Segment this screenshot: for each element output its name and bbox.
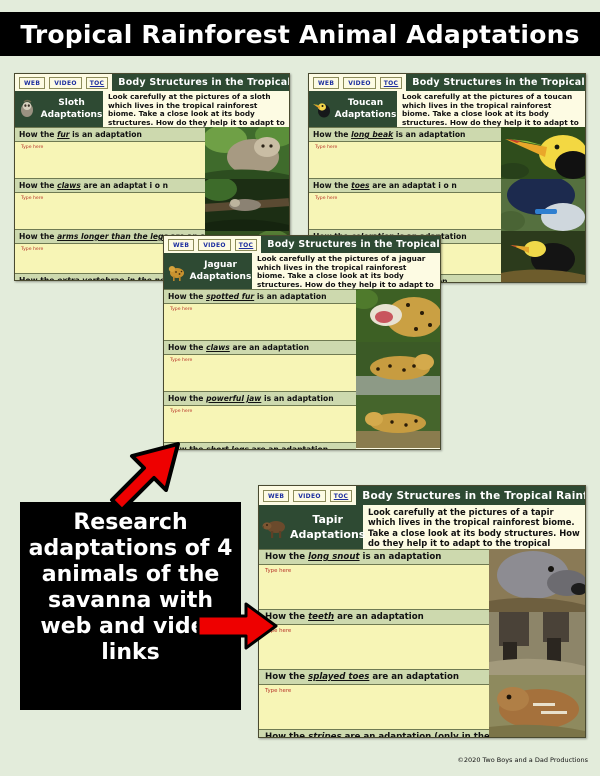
animal-title-box: TapirAdaptations xyxy=(259,505,363,549)
answer-field[interactable]: Type here xyxy=(15,193,205,229)
slide-topbar: WEB VIDEO TOC Body Structures in the Tro… xyxy=(164,236,440,253)
photos-column xyxy=(356,289,440,450)
video-button[interactable]: VIDEO xyxy=(49,77,82,89)
toc-button[interactable]: TOC xyxy=(380,77,403,89)
toc-button[interactable]: TOC xyxy=(86,77,109,89)
slide-intro-band: ToucanAdaptations Look carefully at the … xyxy=(309,91,585,127)
slide-intro-band: SlothAdaptations Look carefully at the p… xyxy=(15,91,289,127)
question-header: How the spotted fur is an adaptation xyxy=(164,289,356,304)
slide-nav-buttons: WEB VIDEO TOC xyxy=(259,486,356,505)
web-button[interactable]: WEB xyxy=(19,77,45,89)
answer-field[interactable]: Type here xyxy=(259,685,489,729)
sloth-photo-1 xyxy=(205,127,289,179)
animal-name: SlothAdaptations xyxy=(40,97,103,121)
photos-column xyxy=(501,127,585,283)
toucan-photo-1 xyxy=(501,127,585,179)
tapir-photo-3 xyxy=(489,675,585,738)
answer-field[interactable]: Type here xyxy=(15,142,205,178)
question-header: How the claws are an adaptation xyxy=(164,340,356,355)
answer-field[interactable]: Type here xyxy=(164,406,356,442)
slide-nav-buttons: WEB VIDEO TOC xyxy=(309,74,406,91)
jaguar-photo-1 xyxy=(356,289,440,342)
animal-title-box: ToucanAdaptations xyxy=(309,91,397,127)
jaguar-photo-2 xyxy=(356,342,440,395)
answer-field[interactable]: Type here xyxy=(309,193,501,229)
toucan-photo-3 xyxy=(501,231,585,283)
answer-field[interactable]: Type here xyxy=(164,304,356,340)
animal-name: JaguarAdaptations xyxy=(189,259,252,283)
question-header: How the stripes are an adaptation (only … xyxy=(259,729,489,738)
slide-topbar: WEB VIDEO TOC Body Structures in the Tro… xyxy=(15,74,289,91)
slide-intro-band: JaguarAdaptations Look carefully at the … xyxy=(164,253,440,289)
slide-topbar: WEB VIDEO TOC Body Structures in the Tro… xyxy=(309,74,585,91)
question-header: How the splayed toes are an adaptation xyxy=(259,669,489,685)
slide-nav-buttons: WEB VIDEO TOC xyxy=(164,236,261,253)
photos-column xyxy=(489,549,585,738)
toc-button[interactable]: TOC xyxy=(330,490,353,502)
answer-field[interactable]: Type here xyxy=(164,355,356,391)
slide-topbar: WEB VIDEO TOC Body Structures in the Tro… xyxy=(259,486,585,505)
questions-column: How the spotted fur is an adaptation Typ… xyxy=(164,289,356,450)
sloth-photo-2 xyxy=(205,179,289,231)
question-header: How the long beak is an adaptation xyxy=(309,127,501,142)
animal-name: TapirAdaptations xyxy=(290,512,365,542)
intro-text: Look carefully at the pictures of a tapi… xyxy=(363,505,585,549)
animal-title-box: SlothAdaptations xyxy=(15,91,103,127)
tapir-icon xyxy=(262,514,288,540)
page-title-banner: Tropical Rainforest Animal Adaptations xyxy=(0,12,600,56)
slide-nav-buttons: WEB VIDEO TOC xyxy=(15,74,112,91)
answer-field[interactable]: Type here xyxy=(309,142,501,178)
jaguar-icon xyxy=(167,260,187,282)
web-button[interactable]: WEB xyxy=(168,239,194,251)
question-header: How the claws are an adaptat i o n xyxy=(15,178,205,193)
sloth-icon xyxy=(18,98,38,120)
toucan-photo-2 xyxy=(501,179,585,231)
intro-text: Look carefully at the pictures of a slot… xyxy=(103,91,289,127)
video-button[interactable]: VIDEO xyxy=(198,239,231,251)
video-button[interactable]: VIDEO xyxy=(343,77,376,89)
intro-text: Look carefully at the pictures of a jagu… xyxy=(252,253,440,289)
intro-text: Look carefully at the pictures of a touc… xyxy=(397,91,585,127)
arrow-up-right-icon xyxy=(98,438,208,510)
answer-field[interactable]: Type here xyxy=(259,565,489,609)
question-header: How the powerful jaw is an adaptation xyxy=(164,391,356,406)
copyright-notice: ©2020 Two Boys and a Dad Productions xyxy=(457,756,588,764)
web-button[interactable]: WEB xyxy=(313,77,339,89)
slide-header-title: Body Structures in the Tropical Rainfore… xyxy=(356,486,586,505)
jaguar-photo-3 xyxy=(356,395,440,448)
web-button[interactable]: WEB xyxy=(263,490,289,502)
video-button[interactable]: VIDEO xyxy=(293,490,326,502)
answer-field[interactable]: Type here xyxy=(259,625,489,669)
questions-column: How the long snout is an adaptation Type… xyxy=(259,549,489,738)
question-header: How the long snout is an adaptation xyxy=(259,549,489,565)
question-header: How the toes are an adaptat i o n xyxy=(309,178,501,193)
poster-canvas: Tropical Rainforest Animal Adaptations W… xyxy=(0,0,600,776)
question-header: How the fur is an adaptation xyxy=(15,127,205,142)
arrow-right-icon xyxy=(196,600,280,652)
slide-body: How the long snout is an adaptation Type… xyxy=(259,549,585,738)
slide-intro-band: TapirAdaptations Look carefully at the p… xyxy=(259,505,585,549)
slide-card-tapir[interactable]: WEB VIDEO TOC Body Structures in the Tro… xyxy=(258,485,586,738)
slide-body: How the spotted fur is an adaptation Typ… xyxy=(164,289,440,450)
slide-header-title: Body Structures in the Tropical Rainfore… xyxy=(112,74,290,91)
animal-title-box: JaguarAdaptations xyxy=(164,253,252,289)
toc-button[interactable]: TOC xyxy=(235,239,258,251)
slide-header-title: Body Structures in the Tropical Rainfore… xyxy=(406,74,586,91)
question-header: How the teeth are an adaptation xyxy=(259,609,489,625)
slide-card-jaguar[interactable]: WEB VIDEO TOC Body Structures in the Tro… xyxy=(163,235,441,450)
tapir-photo-1 xyxy=(489,549,585,612)
slide-header-title: Body Structures in the Tropical Rainfore… xyxy=(261,236,441,253)
toucan-icon xyxy=(312,98,332,120)
animal-name: ToucanAdaptations xyxy=(334,97,397,121)
tapir-photo-2 xyxy=(489,612,585,675)
page-title: Tropical Rainforest Animal Adaptations xyxy=(20,20,579,49)
